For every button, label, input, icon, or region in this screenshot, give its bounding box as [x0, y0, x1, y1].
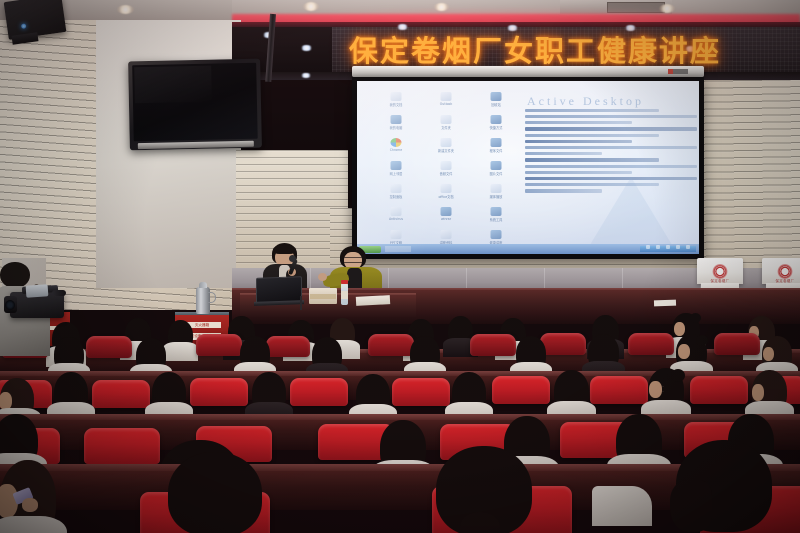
head	[0, 262, 30, 288]
foreground-person	[168, 452, 262, 533]
tissue-box-band	[310, 294, 336, 299]
face	[763, 347, 774, 361]
eyeglasses-icon	[344, 257, 362, 263]
audience-person	[240, 336, 270, 372]
audience-person	[616, 414, 662, 470]
audience-person	[136, 338, 166, 374]
audience-person	[312, 337, 342, 373]
audience-person	[648, 368, 684, 412]
audience-seat	[86, 336, 132, 358]
inner-top	[347, 268, 362, 290]
audience-seat	[92, 380, 150, 408]
head	[168, 452, 262, 533]
bottle-label	[341, 291, 348, 299]
phone-held-in-hand	[0, 486, 72, 533]
hair-bun	[671, 369, 685, 382]
camera-lcd-screen	[26, 284, 49, 298]
audience-seat	[590, 376, 648, 404]
audience-person	[588, 334, 619, 371]
lecture-hall-photo: 保定卷烟厂女职工健康讲座 我的文档Outlook回收站我的电脑文件夹快捷方式Ch…	[0, 0, 800, 533]
audience-seat	[540, 333, 586, 355]
tv-screen-reflection	[134, 66, 211, 103]
ponytail	[460, 512, 500, 533]
company-logo-icon	[778, 264, 793, 279]
hair-bun	[696, 335, 708, 346]
hand	[318, 273, 327, 281]
banner-underlight	[300, 73, 312, 78]
foreground-person	[436, 446, 532, 533]
camera-microphone-icon	[52, 290, 66, 296]
screen-brand-logo	[668, 69, 688, 74]
ceiling-spotlight	[303, 2, 319, 11]
audience-seat	[470, 334, 516, 356]
camera-lens-icon	[5, 300, 15, 310]
speaker-power-led-icon	[21, 23, 27, 29]
ceiling-mounted-tv	[128, 59, 262, 151]
white-garment	[592, 486, 652, 526]
hair-bun	[690, 313, 701, 323]
long-hair	[670, 480, 712, 532]
ceiling-spotlight	[117, 5, 134, 14]
audience-person	[54, 372, 88, 414]
projector-screen-housing	[352, 66, 704, 77]
face	[752, 384, 764, 401]
hair-fringe	[273, 245, 296, 254]
audience-person	[516, 336, 546, 372]
company-logo-icon	[713, 264, 728, 279]
bottle-cap-icon	[341, 280, 348, 284]
audience-seat	[190, 378, 248, 406]
screen-sheen	[357, 81, 699, 254]
projection-surface: 我的文档Outlook回收站我的电脑文件夹快捷方式Chrome新建文件夹程序文件…	[357, 81, 699, 254]
audience-seat	[266, 336, 310, 357]
audience-person	[252, 372, 286, 414]
face	[649, 381, 662, 398]
audience-person	[452, 372, 486, 414]
flask-lid	[199, 282, 207, 288]
microphone-stand	[300, 296, 302, 310]
audience-person	[752, 370, 787, 413]
audience-seat	[392, 378, 450, 406]
audience-seat	[628, 333, 674, 355]
shoulders	[163, 342, 198, 361]
ceiling-spotlight	[434, 3, 449, 11]
audience-seat	[714, 333, 760, 355]
audience-seat	[690, 376, 748, 404]
audience-seat	[492, 376, 550, 404]
face	[678, 344, 690, 359]
audience-person	[168, 320, 193, 351]
audience-seat	[196, 334, 242, 356]
projection-screen: 我的文档Outlook回收站我的电脑文件夹快捷方式Chrome新建文件夹程序文件…	[352, 77, 704, 259]
audience-seat	[290, 378, 348, 406]
audience-person	[152, 372, 186, 414]
documents-on-table	[356, 295, 390, 306]
foreground-person	[676, 440, 772, 532]
microphone-head-icon	[289, 255, 296, 262]
audience-seat	[84, 428, 160, 464]
audience-person	[356, 374, 390, 416]
audience-seat	[368, 334, 414, 356]
audience-person	[554, 370, 589, 413]
audience-person	[410, 336, 440, 372]
hand	[22, 498, 38, 512]
paper-on-stage-table	[654, 300, 676, 307]
banner-spotlight	[300, 45, 313, 51]
audience-person	[762, 336, 792, 372]
ceiling-spotlight	[659, 4, 675, 13]
audience-person	[676, 334, 707, 371]
